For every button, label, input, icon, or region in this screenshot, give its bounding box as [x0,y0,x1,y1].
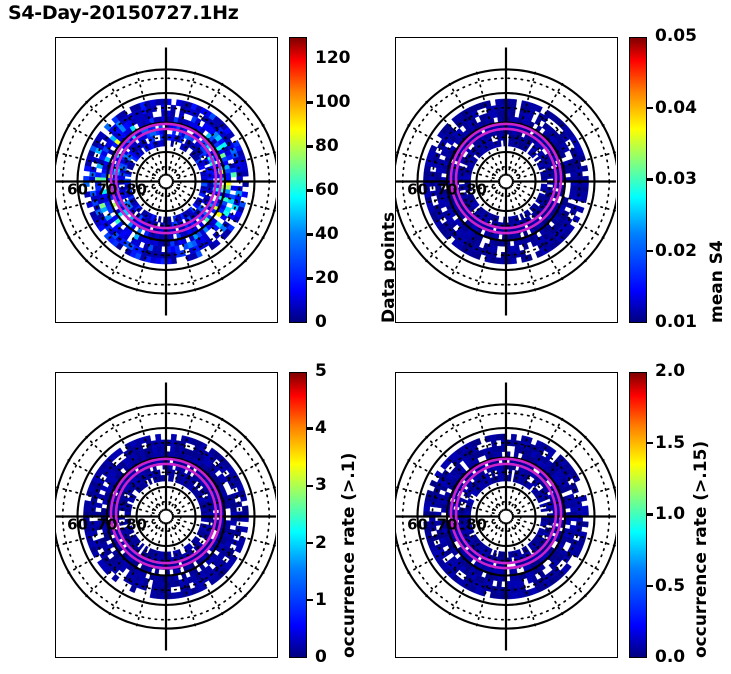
colorbar-tick-mark [307,233,313,235]
colorbar-tick-label: 0.05 [655,28,697,45]
colorbar-tick: 2.0 [647,363,685,380]
colorbar-tick-label: 120 [315,50,351,67]
panel-mean-s4: 607080 0.010.020.030.040.05 mean S4 [395,37,695,325]
colorbar-tick-label: 40 [315,226,339,243]
latitude-tick-label: 80 [466,516,487,534]
latitude-tick-label: 60 [67,516,88,534]
colorbar-tick: 80 [307,138,339,155]
colorbar-tick-label: 0.02 [655,243,697,260]
colorbar-tick-label: 4 [315,420,327,437]
latitude-tick-label: 60 [407,181,428,199]
colorbar-tick-mark [307,542,313,544]
colorbar-tick: 1 [307,592,327,609]
colorbar-tick: 1.5 [647,435,685,452]
latitude-tick-label: 80 [126,516,147,534]
colorbar-label-mean-s4: mean S4 [707,240,727,323]
colorbar-tick-label: 3 [315,477,327,494]
colorbar-gradient-mean-s4 [629,37,647,323]
colorbar-tick-mark [647,321,653,323]
latitude-tick-labels: 607080 [67,516,147,534]
pole-hole [500,176,512,188]
colorbar-tick-label: 1.5 [655,435,685,452]
colorbar-tick-mark [307,101,313,103]
polar-plot-occurrence-rate-p15: 607080 [396,373,616,656]
latitude-tick-label: 80 [126,181,147,199]
colorbar-tick: 120 [307,50,351,67]
colorbar-tick: 0.0 [647,649,685,666]
colorbar-tick-label: 80 [315,138,339,155]
latitude-tick-labels: 607080 [67,181,147,199]
figure-title: S4-Day-20150727.1Hz [8,2,239,24]
polar-axes-data-points: 607080 [55,37,278,323]
colorbar-tick-label: 5 [315,363,327,380]
polar-axes-mean-s4: 607080 [395,37,618,323]
colorbar-label-occurrence-rate-p1: occurrence rate (>.1) [339,453,359,658]
colorbar-tick: 4 [307,420,327,437]
colorbar-tick: 0 [307,649,327,666]
colorbar-tick-mark [307,145,313,147]
colorbar-tick-mark [307,656,313,658]
colorbar-tick: 5 [307,363,327,380]
pole-hole [160,511,172,523]
polar-plot-data-points: 607080 [56,38,276,321]
colorbar-tick: 40 [307,226,339,243]
polar-plot-occurrence-rate-p1: 607080 [56,373,276,656]
panel-occurrence-rate-p1: 607080 012345 occurrence rate (>.1) [55,372,355,660]
latitude-tick-label: 60 [67,181,88,199]
colorbar-label-occurrence-rate-p15: occurrence rate (>.15) [691,441,711,658]
colorbar-tick-mark [307,277,313,279]
colorbar-tick-label: 0.0 [655,649,685,666]
colorbar-tick-label: 0.5 [655,578,685,595]
latitude-tick-label: 70 [97,181,118,199]
colorbar-tick-label: 60 [315,182,339,199]
polar-plot-mean-s4: 607080 [396,38,616,321]
colorbar-tick-label: 0 [315,649,327,666]
latitude-tick-labels: 607080 [407,181,487,199]
panel-occurrence-rate-p15: 607080 0.00.51.01.52.0 occurrence rate (… [395,372,715,660]
colorbar-tick-label: 2.0 [655,363,685,380]
colorbar-tick: 0.05 [647,28,697,45]
colorbar-tick-label: 0.01 [655,314,697,331]
colorbar-tick: 2 [307,535,327,552]
colorbar-tick: 0.03 [647,171,697,188]
colorbar-gradient-occurrence-rate-p15 [629,372,647,658]
colorbar-tick-mark [307,370,313,372]
colorbar-tick-label: 1 [315,592,327,609]
colorbar-tick-mark [647,107,653,109]
colorbar-tick: 60 [307,182,339,199]
latitude-tick-label: 70 [437,516,458,534]
latitude-tick-label: 70 [97,516,118,534]
colorbar-tick-mark [647,370,653,372]
latitude-tick-label: 80 [466,181,487,199]
colorbar-tick-label: 0.03 [655,171,697,188]
colorbar-tick-mark [307,599,313,601]
colorbar-tick: 3 [307,477,327,494]
colorbar-tick: 20 [307,270,339,287]
polar-axes-occurrence-rate-p15: 607080 [395,372,618,658]
colorbar-tick-mark [647,442,653,444]
latitude-tick-label: 70 [437,181,458,199]
polar-axes-occurrence-rate-p1: 607080 [55,372,278,658]
colorbar-tick-label: 2 [315,535,327,552]
colorbar-tick-label: 1.0 [655,506,685,523]
colorbar-tick: 1.0 [647,506,685,523]
colorbar-tick-label: 0 [315,314,327,331]
colorbar-tick: 0 [307,314,327,331]
colorbar-tick: 0.02 [647,243,697,260]
colorbar-tick-mark [307,321,313,323]
panel-data-points: 607080 020406080100120 Data points [55,37,331,325]
colorbar-tick-label: 20 [315,270,339,287]
colorbar-tick-mark [307,427,313,429]
pole-hole [500,511,512,523]
colorbar-tick: 0.01 [647,314,697,331]
colorbar-tick-mark [307,189,313,191]
latitude-tick-label: 60 [407,516,428,534]
colorbar-tick: 100 [307,94,351,111]
colorbar-tick-mark [647,513,653,515]
colorbar-gradient-occurrence-rate-p1 [289,372,307,658]
colorbar-tick-mark [307,57,313,59]
colorbar-gradient-data-points [289,37,307,323]
colorbar-tick: 0.5 [647,578,685,595]
colorbar-tick-mark [307,485,313,487]
colorbar-tick: 0.04 [647,100,697,117]
colorbar-tick-label: 100 [315,94,351,111]
colorbar-tick-mark [647,585,653,587]
colorbar-tick-mark [647,656,653,658]
pole-hole [160,176,172,188]
colorbar-tick-mark [647,250,653,252]
figure-canvas: S4-Day-20150727.1Hz 607080 0204060801001… [0,0,731,674]
colorbar-tick-label: 0.04 [655,100,697,117]
colorbar-tick-mark [647,35,653,37]
latitude-tick-labels: 607080 [407,516,487,534]
colorbar-tick-mark [647,178,653,180]
